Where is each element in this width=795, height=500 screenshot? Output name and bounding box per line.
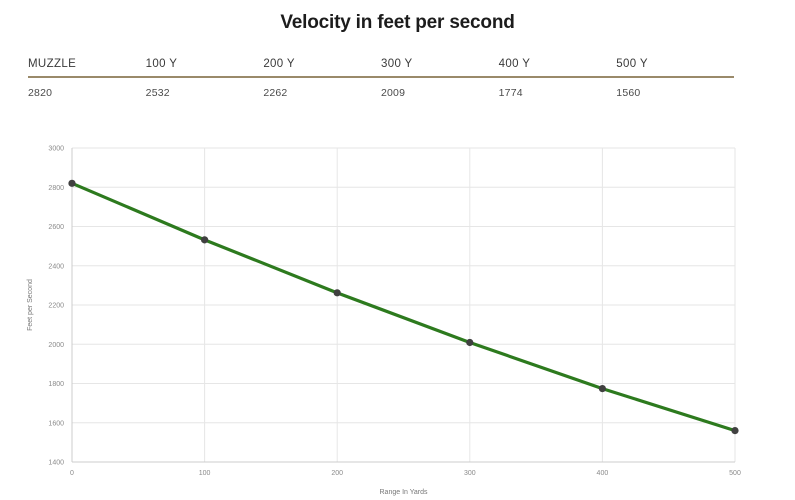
x-tick-label: 500: [729, 470, 741, 477]
velocity-line-chart: 1400160018002000220024002600280030000100…: [0, 130, 795, 500]
x-tick-label: 400: [597, 470, 609, 477]
data-point-marker[interactable]: [599, 385, 606, 392]
table-value-cell: 2820: [28, 78, 146, 99]
table-header-cell: 100 Y: [146, 58, 264, 76]
chart-page: Velocity in feet per second MUZZLE 100 Y…: [0, 0, 795, 500]
x-tick-label: 300: [464, 470, 476, 477]
y-axis-title: Feet per Second: [27, 279, 34, 331]
y-tick-label: 2400: [48, 263, 64, 270]
table-row: 2820 2532 2262 2009 1774 1560: [28, 78, 734, 99]
y-tick-label: 1800: [48, 381, 64, 388]
x-tick-label: 200: [331, 470, 343, 477]
table-value-cell: 2532: [146, 78, 264, 99]
table-value-cell: 1774: [499, 78, 617, 99]
x-tick-label: 0: [70, 470, 74, 477]
y-tick-label: 3000: [48, 146, 64, 153]
y-tick-label: 2000: [48, 342, 64, 349]
data-point-marker[interactable]: [201, 236, 208, 243]
y-tick-label: 2600: [48, 224, 64, 231]
y-tick-label: 2200: [48, 303, 64, 310]
table-header-cell: 400 Y: [499, 58, 617, 76]
data-point-marker[interactable]: [731, 427, 738, 434]
table-value-cell: 2262: [263, 78, 381, 99]
chart-svg: 1400160018002000220024002600280030000100…: [0, 130, 795, 500]
table-value-cell: 1560: [616, 78, 734, 99]
y-tick-label: 1400: [48, 460, 64, 467]
table-header-cell: 500 Y: [616, 58, 734, 76]
table-header-cell: 300 Y: [381, 58, 499, 76]
data-point-marker[interactable]: [334, 289, 341, 296]
x-tick-label: 100: [199, 470, 211, 477]
velocity-series-line: [72, 183, 735, 430]
data-point-marker[interactable]: [466, 339, 473, 346]
table-header-cell: 200 Y: [263, 58, 381, 76]
table-value-cell: 2009: [381, 78, 499, 99]
data-point-marker[interactable]: [68, 180, 75, 187]
table-header-row: MUZZLE 100 Y 200 Y 300 Y 400 Y 500 Y: [28, 58, 734, 78]
velocity-summary-table: MUZZLE 100 Y 200 Y 300 Y 400 Y 500 Y 282…: [28, 58, 734, 99]
y-tick-label: 2800: [48, 185, 64, 192]
table-header-cell: MUZZLE: [28, 58, 146, 76]
page-title: Velocity in feet per second: [0, 12, 795, 34]
y-tick-label: 1600: [48, 420, 64, 427]
x-axis-title: Range In Yards: [380, 489, 428, 496]
